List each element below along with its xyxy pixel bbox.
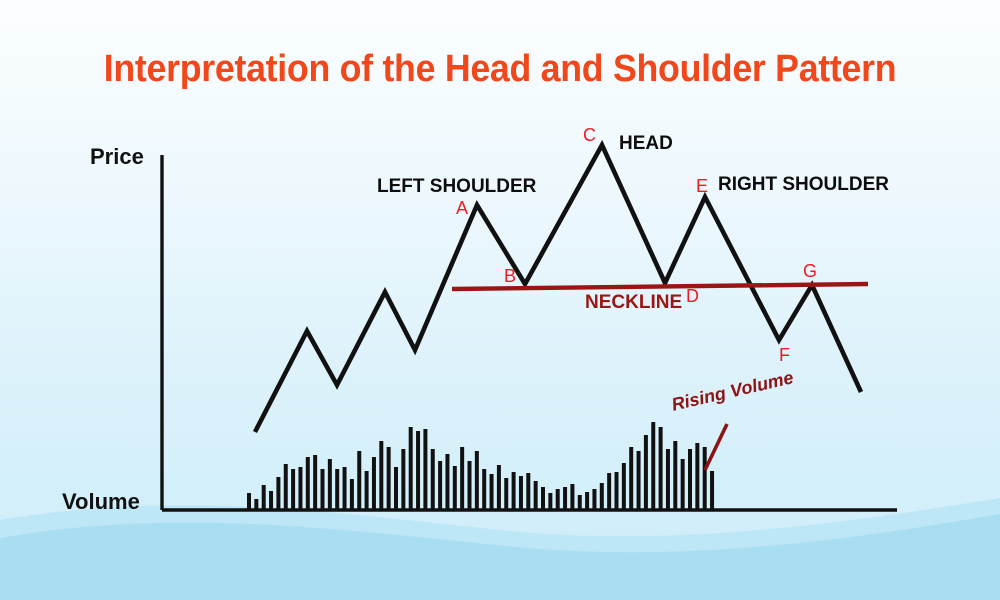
volume-bar [379,441,383,509]
point-label-e: E [696,176,708,197]
volume-bars [247,422,714,509]
volume-bar [453,466,457,509]
volume-bar [504,478,508,509]
volume-bar [681,459,685,509]
axes [162,155,897,510]
rising-volume-arrow [705,424,727,470]
volume-bar [291,469,295,509]
volume-bar [548,493,552,509]
volume-bar [343,467,347,509]
neckline-label: NECKLINE [585,292,682,314]
volume-bar [431,449,435,509]
point-label-d: D [686,286,699,307]
volume-bar [468,461,472,509]
volume-bar [276,477,280,509]
volume-bar [563,487,567,509]
volume-bar [570,484,574,509]
volume-bar [321,469,325,509]
volume-bar [695,443,699,509]
head-label: HEAD [619,133,673,155]
volume-bar [365,471,369,509]
point-label-b: B [504,266,516,287]
volume-bar [629,447,633,509]
volume-bar [585,492,589,509]
volume-bar [688,449,692,509]
volume-bar [600,483,604,509]
volume-bar [254,499,258,509]
volume-bar [262,485,266,509]
volume-bar [592,489,596,509]
volume-bar [394,467,398,509]
volume-bar [512,472,516,509]
volume-bar [644,435,648,509]
point-label-a: A [456,198,468,219]
volume-bar [666,449,670,509]
volume-bar [490,474,494,509]
volume-bar [269,491,273,509]
volume-bar [298,467,302,509]
volume-bar [306,457,310,509]
volume-bar [578,495,582,509]
volume-bar [387,447,391,509]
x-axis-label: Volume [62,489,140,515]
point-label-f: F [779,345,790,366]
volume-bar [409,427,413,509]
volume-bar [438,461,442,509]
volume-bar [541,487,545,509]
volume-bar [335,469,339,509]
right-shoulder-label: RIGHT SHOULDER [718,174,889,196]
volume-bar [401,449,405,509]
volume-bar [659,427,663,509]
volume-bar [313,455,317,509]
volume-bar [703,447,707,509]
volume-bar [622,463,626,509]
volume-bar [475,451,479,509]
left-shoulder-label: LEFT SHOULDER [377,176,536,198]
volume-bar [556,489,560,509]
volume-bar [497,465,501,509]
point-label-c: C [583,125,596,146]
volume-bar [357,451,361,509]
volume-bar [710,471,714,509]
volume-bar [445,454,449,509]
volume-bar [607,473,611,509]
volume-bar [423,429,427,509]
volume-bar [372,457,376,509]
volume-bar [526,473,530,509]
point-label-g: G [803,261,817,282]
volume-bar [328,459,332,509]
volume-bar [350,479,354,509]
page-title: Interpretation of the Head and Shoulder … [30,48,970,91]
volume-bar [615,472,619,509]
volume-bar [637,451,641,509]
volume-bar [534,481,538,509]
volume-bar [460,447,464,509]
volume-bar [416,431,420,509]
volume-bar [247,493,251,509]
volume-bar [482,469,486,509]
chart-canvas: Interpretation of the Head and Shoulder … [0,0,1000,600]
volume-bar [519,476,523,509]
volume-bar [673,441,677,509]
volume-bar [284,464,288,509]
volume-bar [651,422,655,509]
y-axis-label: Price [90,144,144,170]
